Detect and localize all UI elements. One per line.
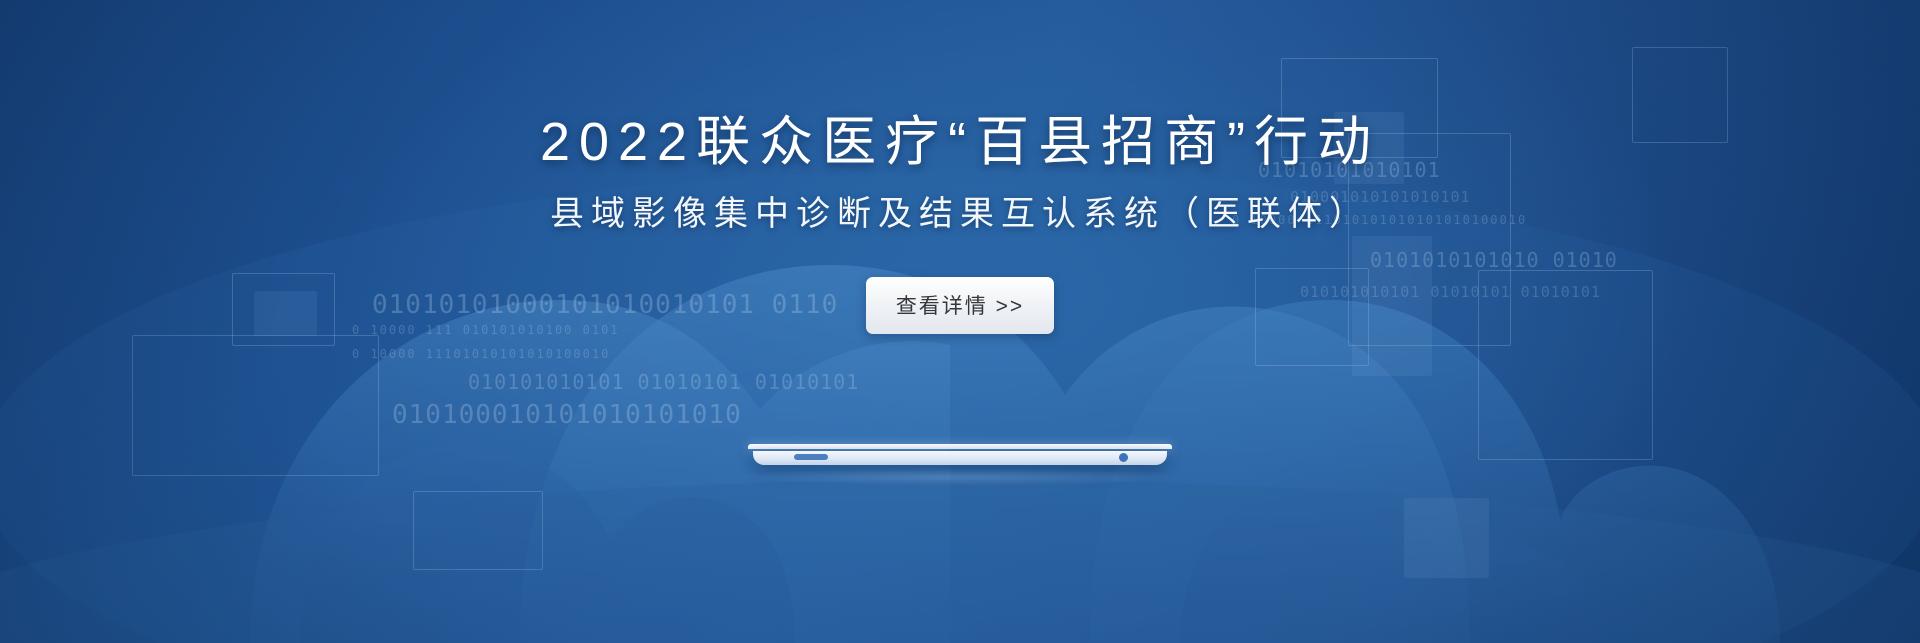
deco-rect-left-large bbox=[132, 335, 379, 476]
binary-string-4: 010101010101 01010101 01010101 bbox=[468, 370, 859, 394]
laptop-port-icon bbox=[794, 454, 828, 460]
banner-subtitle: 县域影像集中诊断及结果互认系统（医联体） bbox=[0, 172, 1920, 235]
view-details-button[interactable]: 查看详情 >> bbox=[866, 277, 1054, 334]
deco-square-bottom bbox=[1404, 498, 1489, 578]
laptop-device-graphic bbox=[748, 444, 1172, 470]
binary-string-3: 0 10000 11101010101010100010 bbox=[352, 347, 610, 361]
cta-container: 查看详情 >> bbox=[0, 277, 1920, 334]
laptop-lid-edge bbox=[748, 444, 1172, 449]
promo-banner: 01010101000101010010101 0110 0 10000 111… bbox=[0, 0, 1920, 643]
binary-string-5: 010100010101010101010 bbox=[392, 400, 742, 430]
deco-rect-bottom-left bbox=[413, 491, 543, 570]
laptop-indicator-dot bbox=[1119, 453, 1128, 462]
laptop-glow bbox=[730, 468, 1190, 486]
banner-content: 2022联众医疗“百县招商”行动 县域影像集中诊断及结果互认系统（医联体） 查看… bbox=[0, 0, 1920, 334]
banner-title: 2022联众医疗“百县招商”行动 bbox=[0, 0, 1920, 172]
